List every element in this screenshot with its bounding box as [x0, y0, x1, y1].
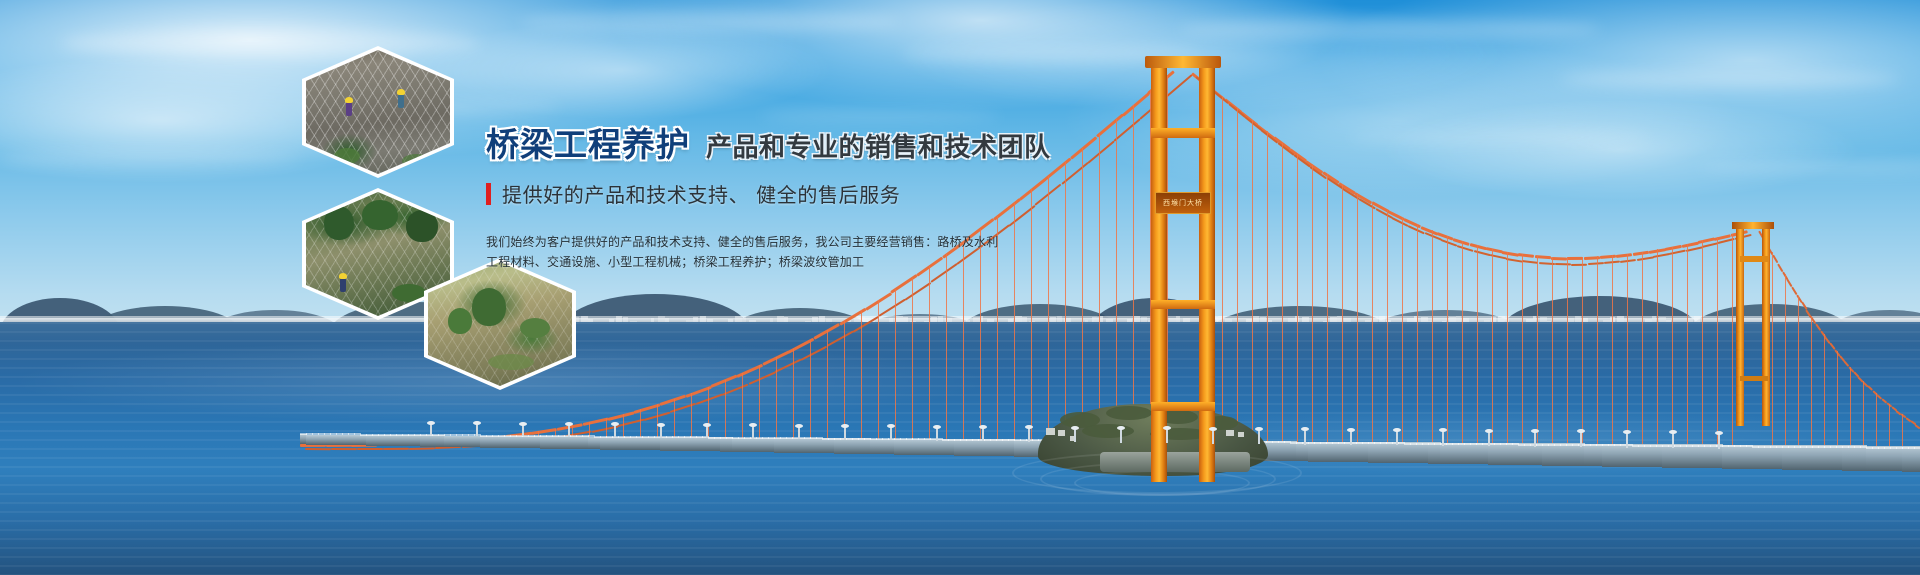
headline-primary: 桥梁工程养护 — [486, 118, 690, 166]
headline-row: 桥梁工程养护 产品和专业的销售和技术团队 — [486, 118, 1246, 162]
paragraph-line-1: 我们始终为客户提供好的产品和技术支持、健全的售后服务，我公司主要经营销售：路桥及… — [486, 232, 906, 252]
banner-copy: 桥梁工程养护 产品和专业的销售和技术团队 提供好的产品和技术支持、 健全的售后服… — [486, 118, 1246, 272]
hex-photo-rock-slope-mesh — [302, 46, 454, 178]
subheadline-text: 提供好的产品和技术支持、 健全的售后服务 — [502, 179, 900, 208]
banner-paragraph: 我们始终为客户提供好的产品和技术支持、健全的售后服务，我公司主要经营销售：路桥及… — [486, 232, 906, 272]
headline-secondary: 产品和专业的销售和技术团队 — [706, 127, 1051, 164]
red-accent-bar — [486, 183, 491, 205]
hex-photo-group — [0, 0, 560, 440]
hero-banner: 西堠门大桥 — [0, 0, 1920, 575]
subheadline-row: 提供好的产品和技术支持、 健全的售后服务 — [486, 179, 1246, 208]
paragraph-line-2: 工程材料、交通设施、小型工程机械；桥梁工程养护；桥梁波纹管加工 — [486, 252, 906, 272]
